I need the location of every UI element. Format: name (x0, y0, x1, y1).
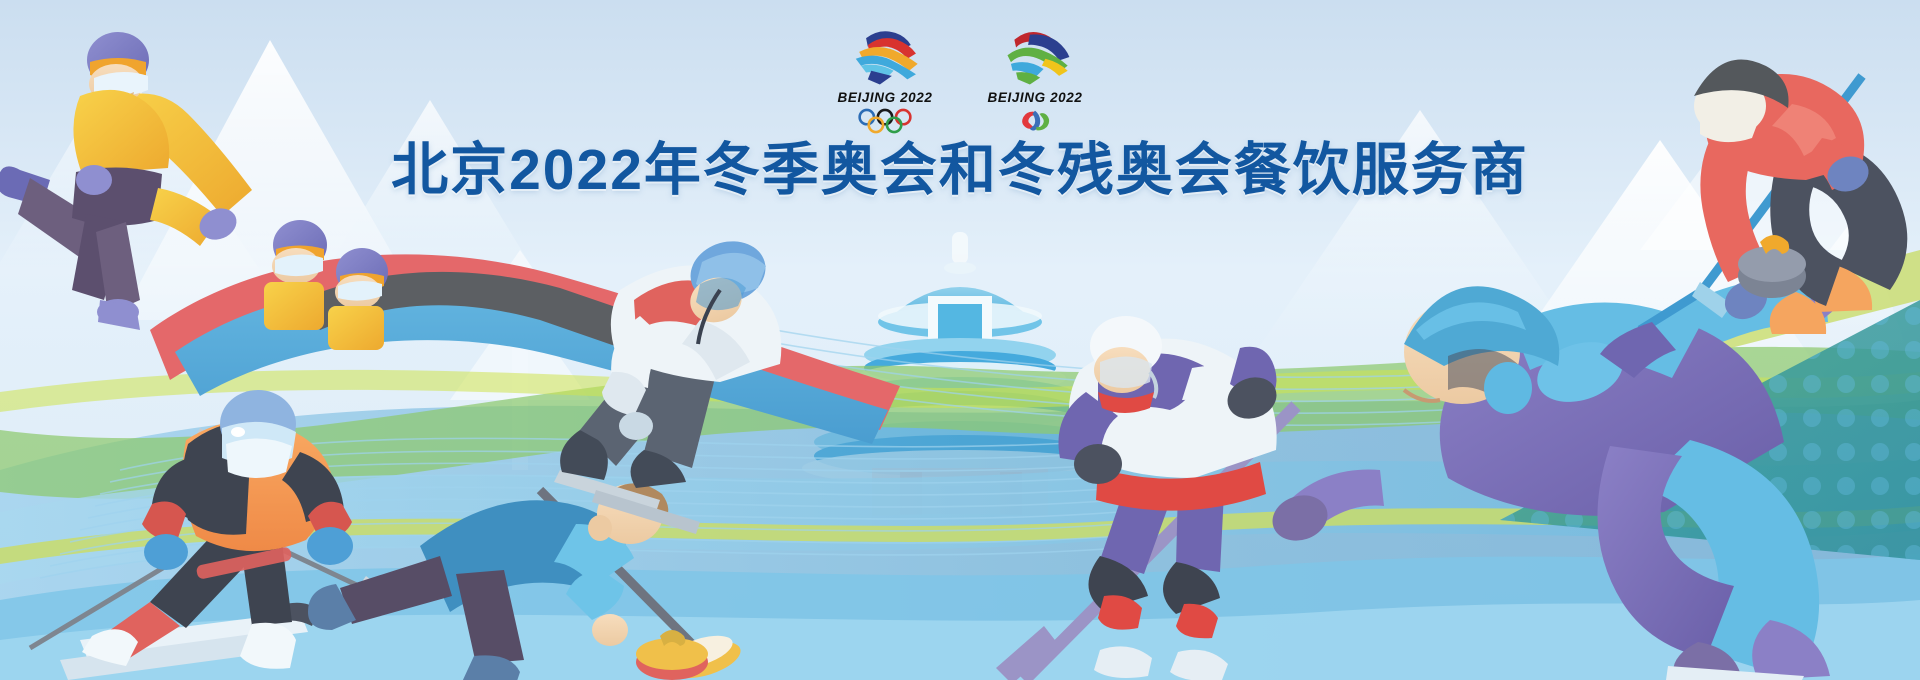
athletes-layer (0, 0, 1920, 680)
athlete-curler-delivery (308, 483, 745, 680)
athlete-alpine-skier (30, 390, 396, 680)
athlete-bobsleigh-team (0, 32, 900, 534)
bobsleigh-pusher (0, 32, 252, 330)
athlete-speed-skater-large (1267, 273, 1856, 680)
olympics-banner: BEIJING 2022 (0, 0, 1920, 680)
athlete-ice-hockey (996, 316, 1296, 680)
